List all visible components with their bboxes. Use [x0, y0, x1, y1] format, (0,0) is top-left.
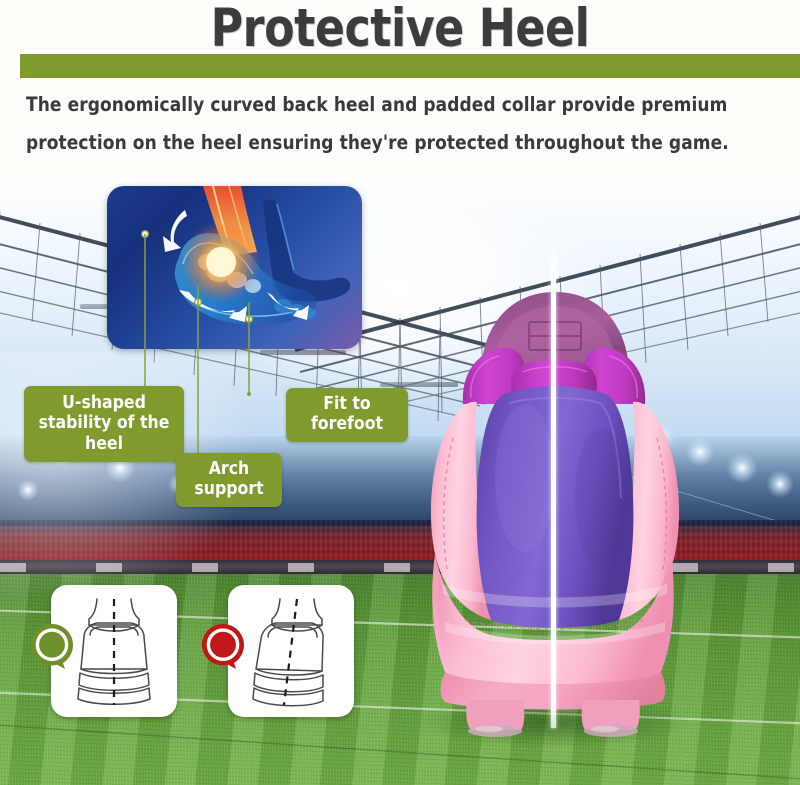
- symmetry-centerline: [551, 252, 556, 728]
- description-text: The ergonomically curved back heel and p…: [26, 86, 755, 162]
- ankle-anatomy-inset: [107, 186, 362, 349]
- check-badge-icon: [29, 623, 76, 670]
- page-title: Protective Heel: [28, 1, 772, 57]
- soccer-cleat-rear-view: [405, 248, 725, 748]
- infographic-page: U-shaped stability of the heel Arch supp…: [0, 0, 800, 785]
- callout-arch-support[interactable]: Arch support: [176, 453, 282, 507]
- callout-u-shaped-stability[interactable]: U-shaped stability of the heel: [24, 386, 184, 462]
- callout-fit-to-forefoot[interactable]: Fit to forefoot: [286, 388, 408, 442]
- cross-badge-icon: [200, 623, 247, 670]
- header: Protective Heel The ergonomically curved…: [0, 0, 800, 178]
